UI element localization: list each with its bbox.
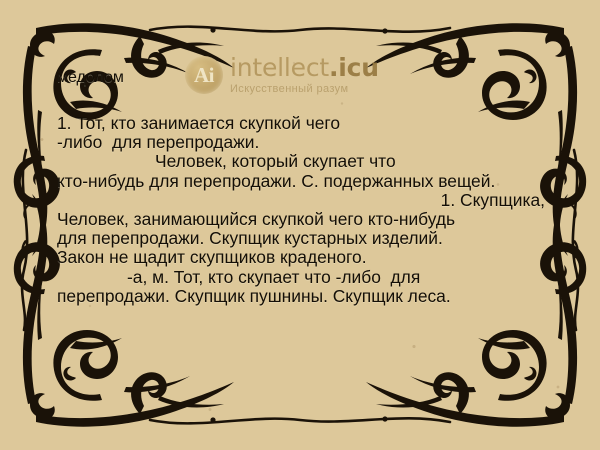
entry-line: -а, м. Тот, кто скупает что -либо для: [127, 267, 420, 288]
parchment-page: Ai intellect.icu Искусственный разум мед…: [0, 0, 600, 450]
entry-line: Человек, занимающийся скупкой чего кто-н…: [57, 209, 455, 230]
entry-line: 1. Скупщика,: [0, 190, 545, 211]
entry-line: Человек, который скупает что: [155, 151, 396, 172]
entry-line: 1. Тот, кто занимается скупкой чего: [57, 113, 340, 134]
headword: медолом: [57, 69, 124, 87]
entry-line: кто-нибудь для перепродажи. С. подержанн…: [57, 171, 495, 192]
entry-line: для перепродажи. Скупщик кустарных издел…: [57, 228, 443, 249]
entry-line: перепродажи. Скупщик пушнины. Скупщик ле…: [57, 286, 451, 307]
entry-line: -либо для перепродажи.: [57, 132, 259, 153]
dictionary-entry: медолом 1. Тот, кто занимается скупкой ч…: [0, 0, 600, 450]
entry-line: Закон не щадит скупщиков краденого.: [57, 247, 367, 268]
